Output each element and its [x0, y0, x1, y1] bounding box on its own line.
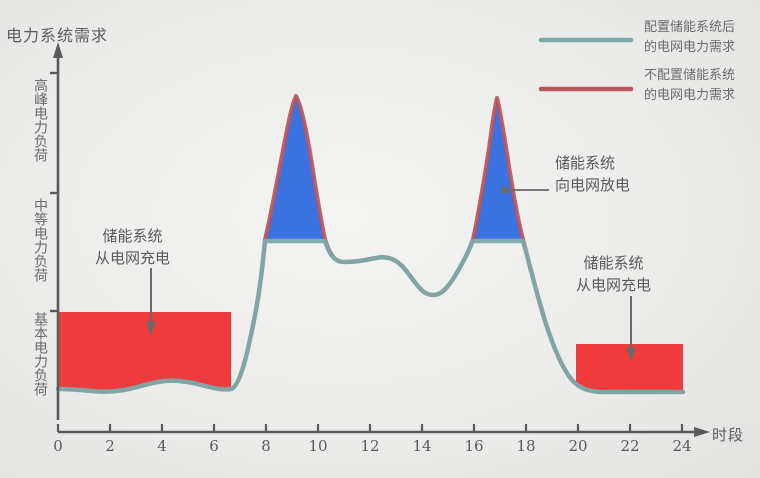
- discharge-area-morning: [265, 96, 325, 239]
- x-tick-label-12: 12: [357, 437, 383, 455]
- annotation-charge-left-line1: 储能系统: [95, 225, 170, 247]
- axis-x: [58, 424, 710, 437]
- legend-item-no-storage-line2: 的电网电力需求: [644, 86, 735, 106]
- annotation-discharge: 储能系统 向电网放电: [555, 152, 630, 196]
- x-tick-label-18: 18: [513, 437, 539, 455]
- legend-item-no-storage: 不配置储能系统 的电网电力需求: [644, 66, 735, 106]
- annotation-discharge-line1: 储能系统: [555, 152, 630, 174]
- x-tick-label-24: 24: [669, 437, 695, 455]
- annotation-charge-right-line1: 储能系统: [576, 252, 651, 274]
- annotation-charge-left-line2: 从电网充电: [95, 247, 170, 269]
- y-band-label-base: 基本电力负荷: [26, 312, 48, 396]
- charge-area-left: [58, 312, 231, 392]
- y-band-label-medium: 中等电力负荷: [26, 198, 48, 282]
- annotation-charge-left: 储能系统 从电网充电: [95, 225, 170, 269]
- legend-swatches: [541, 40, 631, 89]
- x-tick-label-20: 20: [565, 437, 591, 455]
- y-axis-title: 电力系统需求: [6, 22, 108, 46]
- y-band-label-peak: 高峰电力负荷: [26, 78, 48, 162]
- x-tick-label-0: 0: [45, 437, 71, 455]
- x-tick-label-16: 16: [461, 437, 487, 455]
- legend-item-with-storage-line1: 配置储能系统后: [644, 18, 735, 38]
- x-tick-label-6: 6: [201, 437, 227, 455]
- annotation-discharge-line2: 向电网放电: [555, 174, 630, 196]
- legend-item-with-storage-line2: 的电网电力需求: [644, 38, 735, 58]
- x-tick-label-10: 10: [305, 437, 331, 455]
- x-tick-label-14: 14: [409, 437, 435, 455]
- x-tick-label-22: 22: [617, 437, 643, 455]
- chart-canvas: 电力系统需求 时段 高峰电力负荷 中等电力负荷 基本电力负荷 0 2 4 6 8…: [0, 0, 760, 478]
- x-tick-label-2: 2: [97, 437, 123, 455]
- x-axis-title: 时段: [712, 424, 744, 445]
- discharge-area-evening: [473, 98, 523, 239]
- x-tick-label-8: 8: [253, 437, 279, 455]
- annotation-charge-right: 储能系统 从电网充电: [576, 252, 651, 296]
- annotation-charge-right-line2: 从电网充电: [576, 274, 651, 296]
- x-tick-label-4: 4: [149, 437, 175, 455]
- legend-item-no-storage-line1: 不配置储能系统: [644, 66, 735, 86]
- legend-item-with-storage: 配置储能系统后 的电网电力需求: [644, 18, 735, 58]
